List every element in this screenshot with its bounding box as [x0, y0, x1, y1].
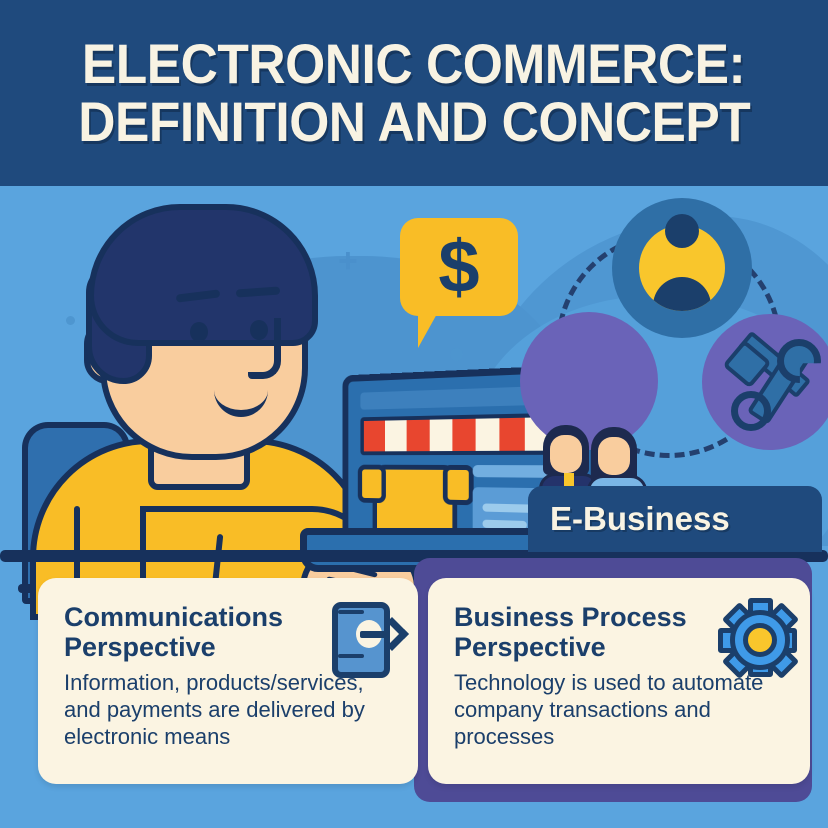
card-title: Communications Perspective	[64, 602, 319, 662]
card-title: Business Process Perspective	[454, 602, 724, 662]
gear-icon	[722, 600, 786, 668]
infographic-poster: ELECTRONIC COMMERCE: DEFINITION AND CONC…	[0, 0, 828, 828]
business-process-perspective-card: Business Process Perspective Technology …	[428, 578, 810, 784]
wrench-ring-end	[731, 391, 771, 431]
gear-center	[743, 623, 777, 657]
wrench-head	[777, 339, 821, 383]
phone-speaker-bar	[338, 610, 364, 614]
e-business-label: E-Business	[550, 500, 730, 538]
icon-trio-group	[520, 196, 820, 486]
tools-icon-circle	[702, 314, 828, 450]
poster-header: ELECTRONIC COMMERCE: DEFINITION AND CONC…	[0, 0, 828, 186]
card-body: Information, products/services, and paym…	[64, 670, 392, 750]
communications-perspective-card: Communications Perspective Information, …	[38, 578, 418, 784]
person-eye-left	[190, 322, 208, 342]
page-title-line-2: DEFINITION AND CONCEPT	[78, 93, 750, 151]
phone-home-bar	[338, 654, 364, 658]
dollar-sign-icon: $	[438, 230, 479, 304]
money-speech-bubble: $	[400, 218, 518, 316]
phone-send-icon	[330, 600, 394, 668]
user-icon	[639, 225, 725, 311]
page-title-line-1: ELECTRONIC COMMERCE:	[82, 35, 745, 93]
person-sleeve-cuff-2	[74, 506, 80, 586]
people-icon	[537, 339, 641, 423]
tools-icon	[727, 339, 813, 425]
user-body-shape	[653, 277, 711, 311]
card-body: Technology is used to automate company t…	[454, 670, 784, 750]
user-icon-circle	[612, 198, 752, 338]
people-icon-circle	[520, 312, 658, 450]
user-head-shape	[665, 225, 699, 248]
e-business-badge: E-Business	[528, 486, 822, 552]
person-nose	[248, 318, 281, 379]
dot-decoration-icon-2	[450, 348, 463, 361]
person-b-face	[598, 437, 630, 475]
person-a-face	[550, 435, 582, 473]
gear-shape	[724, 604, 786, 666]
speech-bubble-tail	[418, 312, 438, 348]
